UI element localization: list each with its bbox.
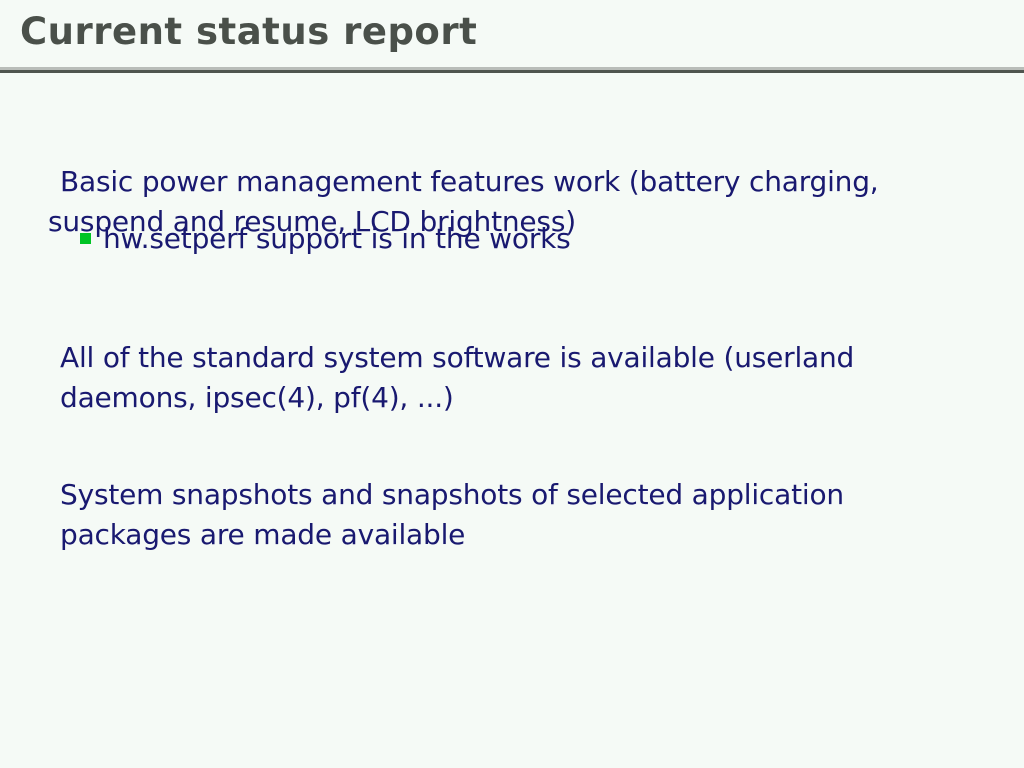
bullet-point-standard-software: All of the standard system software is a… — [60, 338, 970, 418]
bullet-point-snapshots: System snapshots and snapshots of select… — [60, 475, 960, 555]
presentation-slide: Current status report Basic power manage… — [0, 0, 1024, 768]
sub-bullet-label: hw.setperf support is in the works — [103, 220, 571, 258]
slide-body: Basic power management features work (ba… — [0, 72, 1024, 768]
sub-bullet-hw-setperf: hw.setperf support is in the works — [80, 220, 940, 258]
square-bullet-icon — [80, 233, 91, 244]
page-title: Current status report — [20, 9, 477, 55]
slide-header: Current status report — [0, 0, 1024, 72]
